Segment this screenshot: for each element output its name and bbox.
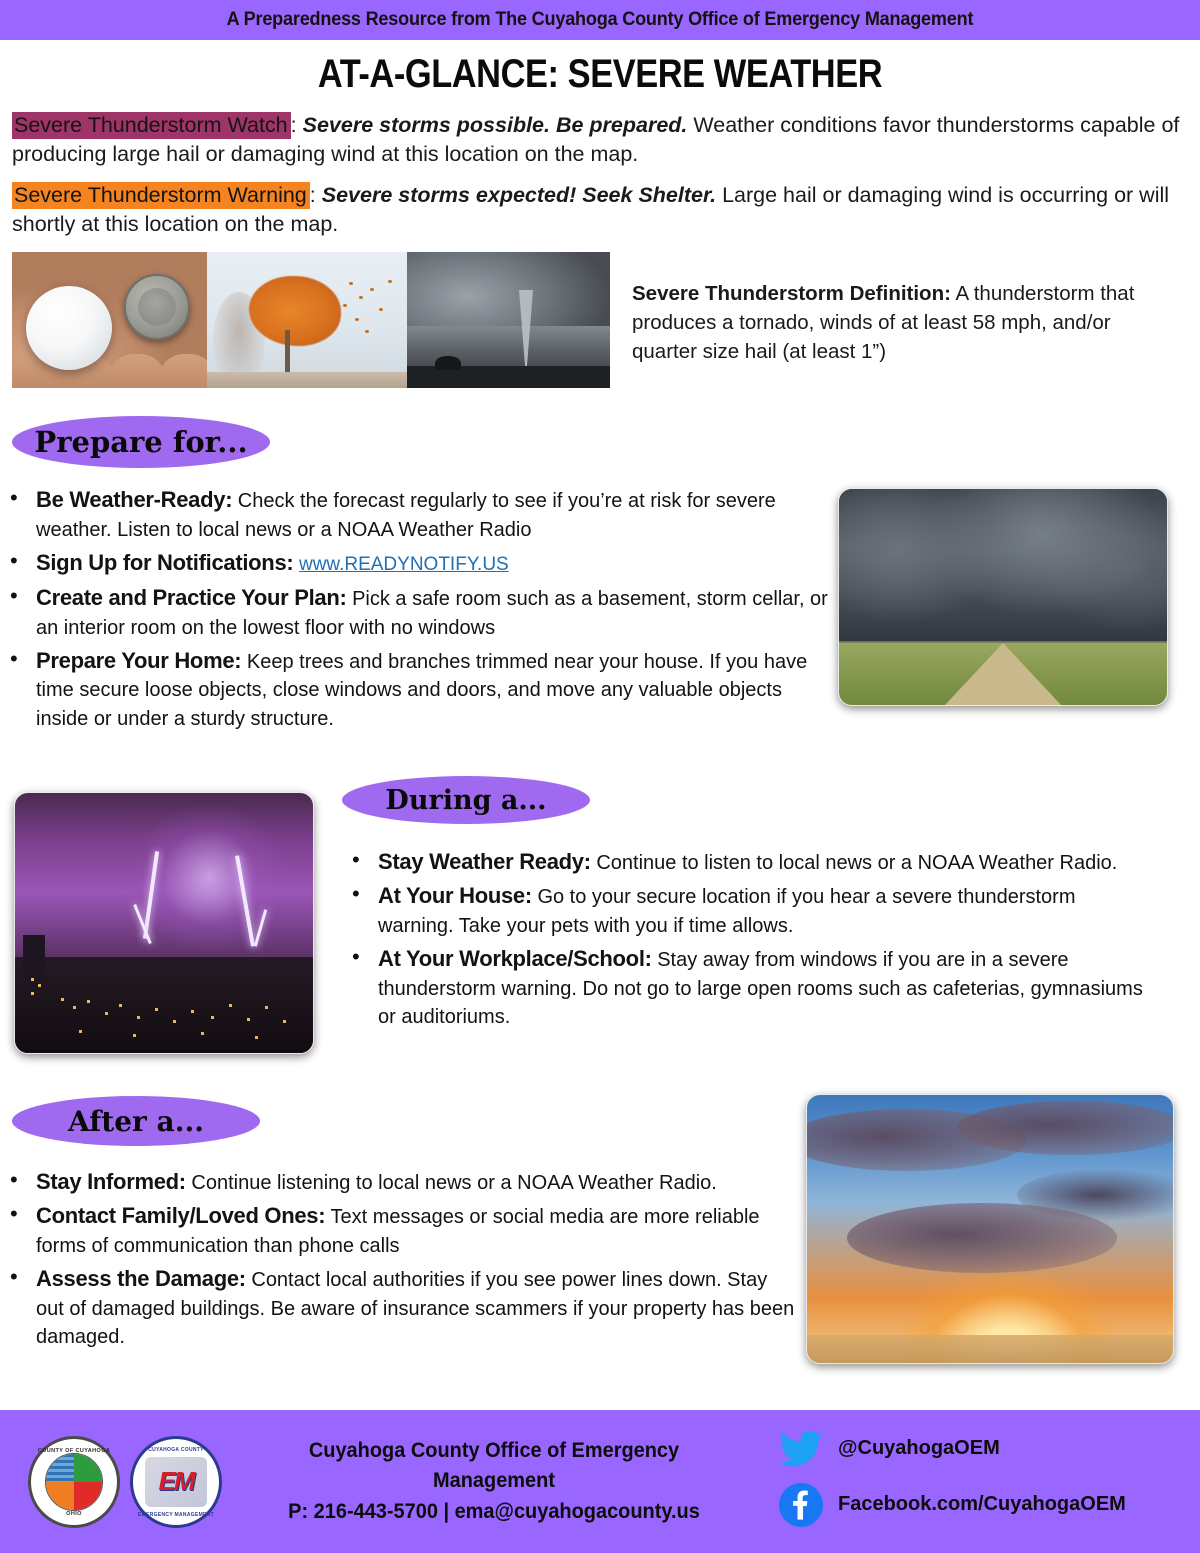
- list-item: Contact Family/Loved Ones: Text messages…: [0, 1200, 800, 1260]
- prepare-item-2-lead: Create and Practice Your Plan:: [36, 585, 347, 610]
- twitter-handle[interactable]: @CuyahogaOEM: [838, 1437, 1000, 1460]
- em-seal-bottom-text: EMERGENCY MANAGEMENT: [133, 1512, 219, 1518]
- during-photo-wrap: [0, 776, 314, 1054]
- tornado-photo: [407, 252, 610, 388]
- watch-separator: :: [291, 113, 303, 137]
- prepare-badge: Prepare for...: [12, 416, 270, 468]
- list-item: Assess the Damage: Contact local authori…: [0, 1263, 800, 1351]
- definition-label: Severe Thunderstorm Definition:: [632, 282, 951, 305]
- facebook-handle[interactable]: Facebook.com/CuyahogaOEM: [838, 1493, 1126, 1516]
- list-item: Sign Up for Notifications: www.READYNOTI…: [0, 547, 834, 579]
- list-item: Stay Weather Ready: Continue to listen t…: [342, 846, 1154, 877]
- prepare-section: Prepare for... Be Weather-Ready: Check t…: [0, 416, 1200, 736]
- page-title: AT-A-GLANCE: SEVERE WEATHER: [84, 52, 1116, 97]
- warning-emphasis: Severe storms expected! Seek Shelter.: [322, 183, 716, 207]
- list-item: At Your House: Go to your secure locatio…: [342, 880, 1154, 940]
- storm-clouds-over-road-photo: [838, 488, 1168, 706]
- watch-emphasis: Severe storms possible. Be prepared.: [303, 113, 688, 137]
- org-name: Cuyahoga County Office of Emergency Mana…: [257, 1436, 732, 1497]
- during-content: During a... Stay Weather Ready: Continue…: [342, 776, 1154, 1054]
- list-item: Create and Practice Your Plan: Pick a sa…: [0, 582, 834, 642]
- cuyahoga-county-seal-icon: COUNTY OF CUYAHOGA OHIO: [28, 1436, 120, 1528]
- during-item-0-lead: Stay Weather Ready:: [378, 849, 591, 874]
- after-list: Stay Informed: Continue listening to loc…: [0, 1166, 800, 1351]
- severe-thunderstorm-definition: Severe Thunderstorm Definition: A thunde…: [632, 252, 1180, 366]
- prepare-item-0-lead: Be Weather-Ready:: [36, 487, 232, 512]
- hail-with-quarter-photo: [12, 252, 207, 388]
- after-section: After a... Stay Informed: Continue liste…: [0, 1096, 1200, 1364]
- after-badge: After a...: [12, 1096, 260, 1146]
- after-item-0-lead: Stay Informed:: [36, 1169, 186, 1194]
- after-photo-wrap: [806, 1094, 1174, 1364]
- county-seal-quadrants: [45, 1453, 103, 1511]
- sunset-after-storm-photo: [806, 1094, 1174, 1364]
- facebook-row[interactable]: Facebook.com/CuyahogaOEM: [778, 1482, 1126, 1528]
- footer-seals: COUNTY OF CUYAHOGA OHIO CUYAHOGA COUNTY …: [28, 1436, 222, 1528]
- wind-damage-tree-photo: [207, 252, 407, 388]
- after-item-1-lead: Contact Family/Loved Ones:: [36, 1203, 325, 1228]
- warning-separator: :: [310, 183, 322, 207]
- lightning-over-city-photo: [14, 792, 314, 1054]
- twitter-row[interactable]: @CuyahogaOEM: [778, 1426, 1126, 1472]
- definitions-block: Severe Thunderstorm Watch: Severe storms…: [0, 111, 1200, 238]
- county-seal-top-text: COUNTY OF CUYAHOGA: [31, 1448, 117, 1454]
- prepare-photo-wrap: [838, 488, 1168, 736]
- top-banner: A Preparedness Resource from The Cuyahog…: [0, 0, 1200, 40]
- list-item: At Your Workplace/School: Stay away from…: [342, 943, 1154, 1031]
- readynotify-link[interactable]: www.READYNOTIFY.US: [299, 554, 509, 575]
- social-links: @CuyahogaOEM Facebook.com/CuyahogaOEM: [778, 1426, 1126, 1538]
- em-seal-top-text: CUYAHOGA COUNTY: [133, 1447, 219, 1453]
- after-content: After a... Stay Informed: Continue liste…: [0, 1096, 800, 1364]
- footer-contact: Cuyahoga County Office of Emergency Mana…: [244, 1436, 744, 1527]
- twitter-icon[interactable]: [778, 1426, 824, 1472]
- emergency-management-seal-icon: CUYAHOGA COUNTY EM EMERGENCY MANAGEMENT: [130, 1436, 222, 1528]
- prepare-item-1-lead: Sign Up for Notifications:: [36, 550, 293, 575]
- warning-term-highlight: Severe Thunderstorm Warning: [12, 182, 310, 209]
- contact-line: P: 216-443-5700 | ema@cuyahogacounty.us: [257, 1497, 732, 1527]
- prepare-list: Be Weather-Ready: Check the forecast reg…: [0, 484, 834, 736]
- during-section: During a... Stay Weather Ready: Continue…: [0, 776, 1200, 1054]
- facebook-icon[interactable]: [778, 1482, 824, 1528]
- photo-strip-row: Severe Thunderstorm Definition: A thunde…: [0, 252, 1200, 388]
- during-list: Stay Weather Ready: Continue to listen t…: [342, 846, 1154, 1031]
- during-badge: During a...: [342, 776, 590, 824]
- banner-text: A Preparedness Resource from The Cuyahog…: [227, 9, 974, 31]
- after-item-0-text: Continue listening to local news or a NO…: [186, 1172, 717, 1194]
- watch-definition: Severe Thunderstorm Watch: Severe storms…: [12, 111, 1188, 168]
- em-monogram: EM: [145, 1457, 207, 1507]
- list-item: Prepare Your Home: Keep trees and branch…: [0, 645, 834, 733]
- list-item: Be Weather-Ready: Check the forecast reg…: [0, 484, 834, 544]
- during-item-1-lead: At Your House:: [378, 883, 532, 908]
- watch-term-highlight: Severe Thunderstorm Watch: [12, 112, 291, 139]
- list-item: Stay Informed: Continue listening to loc…: [0, 1166, 800, 1197]
- warning-definition: Severe Thunderstorm Warning: Severe stor…: [12, 181, 1188, 238]
- photo-strip: [12, 252, 610, 388]
- during-item-0-text: Continue to listen to local news or a NO…: [591, 852, 1118, 874]
- during-item-2-lead: At Your Workplace/School:: [378, 946, 652, 971]
- county-seal-bottom-text: OHIO: [31, 1511, 117, 1517]
- prepare-item-3-lead: Prepare Your Home:: [36, 648, 241, 673]
- after-item-2-lead: Assess the Damage:: [36, 1266, 246, 1291]
- footer: COUNTY OF CUYAHOGA OHIO CUYAHOGA COUNTY …: [0, 1410, 1200, 1553]
